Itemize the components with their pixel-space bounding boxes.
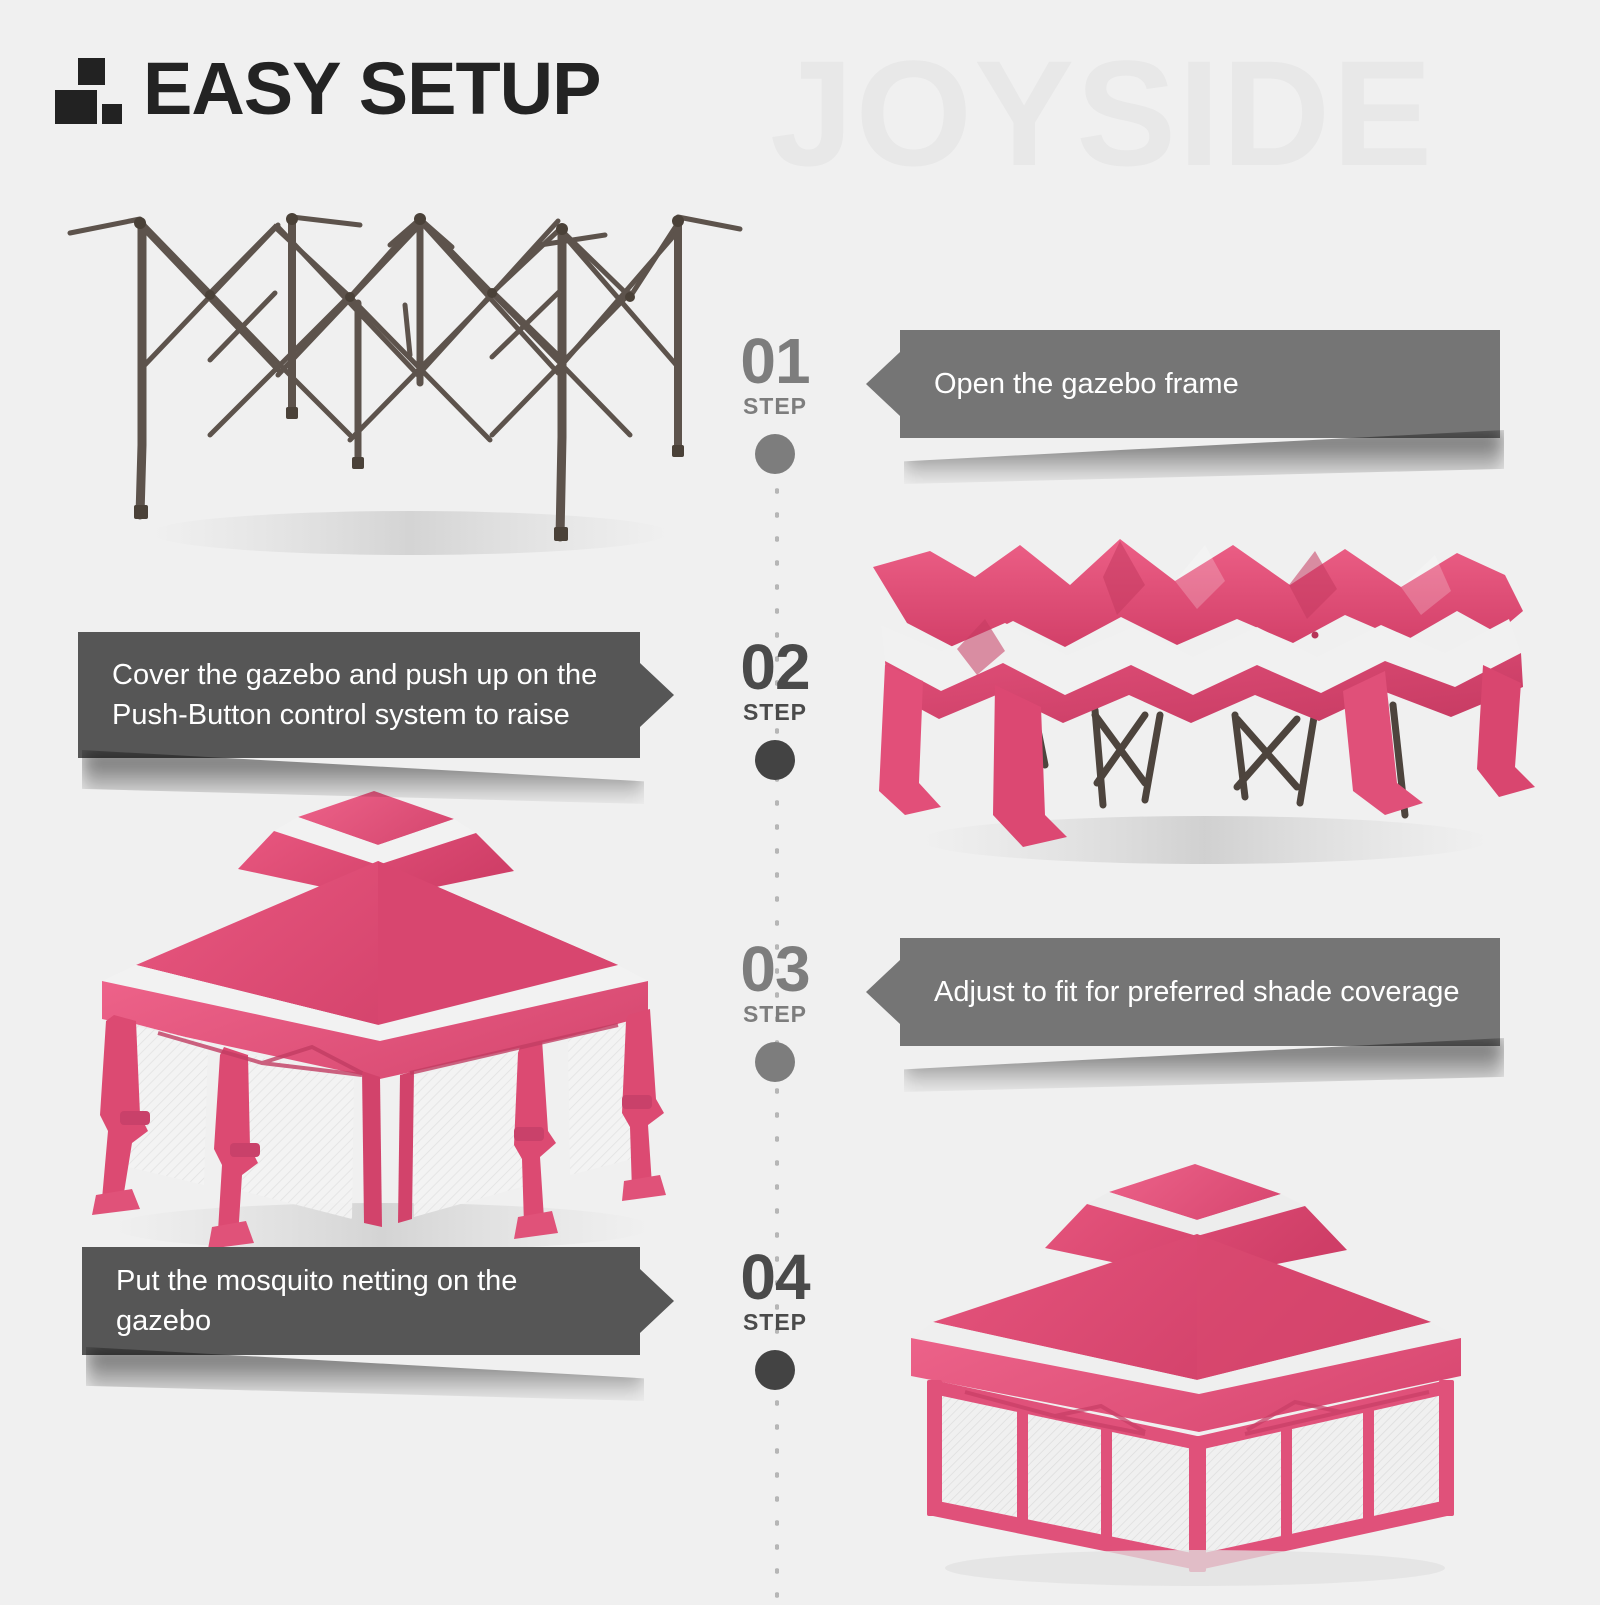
callout-shadow xyxy=(904,1038,1504,1092)
page-header: EASY SETUP xyxy=(55,52,600,124)
raised-pink-gazebo-photo xyxy=(62,775,702,1265)
step-callout-3: Adjust to fit for preferred shade covera… xyxy=(900,938,1500,1046)
collapsed-gazebo-frame-photo xyxy=(60,185,750,575)
step-bullet-icon xyxy=(755,1042,795,1082)
callout-body: Open the gazebo frame xyxy=(900,330,1500,438)
callout-body: Put the mosquito netting on the gazebo xyxy=(82,1247,640,1355)
step-word: STEP xyxy=(690,1309,860,1336)
step-bullet-icon xyxy=(755,740,795,780)
gazebo-with-mosquito-netting-photo xyxy=(895,1140,1525,1590)
step-number: 04 xyxy=(690,1248,860,1307)
step-number: 01 xyxy=(690,332,860,391)
step-word: STEP xyxy=(690,1001,860,1028)
step-callout-4: Put the mosquito netting on the gazebo xyxy=(82,1247,640,1355)
step-number: 02 xyxy=(690,638,860,697)
brand-watermark: JOYSIDE xyxy=(770,38,1434,188)
canopy-draped-over-frame-photo xyxy=(845,515,1545,885)
callout-notch-icon xyxy=(866,352,900,416)
callout-body: Adjust to fit for preferred shade covera… xyxy=(900,938,1500,1046)
callout-shadow xyxy=(86,1347,644,1401)
step-marker-3: 03 STEP xyxy=(690,940,860,1082)
callout-notch-icon xyxy=(640,663,674,727)
step-marker-2: 02 STEP xyxy=(690,638,860,780)
page-title: EASY SETUP xyxy=(143,54,600,124)
step-bullet-icon xyxy=(755,434,795,474)
callout-notch-icon xyxy=(866,960,900,1024)
callout-body: Cover the gazebo and push up on the Push… xyxy=(78,632,640,758)
step-callout-2: Cover the gazebo and push up on the Push… xyxy=(78,632,640,758)
step-callout-1: Open the gazebo frame xyxy=(900,330,1500,438)
step-bullet-icon xyxy=(755,1350,795,1390)
step-word: STEP xyxy=(690,393,860,420)
callout-text: Put the mosquito netting on the gazebo xyxy=(116,1261,606,1341)
callout-text: Cover the gazebo and push up on the Push… xyxy=(112,655,597,735)
callout-shadow xyxy=(904,430,1504,484)
callout-text: Adjust to fit for preferred shade covera… xyxy=(934,972,1460,1012)
step-word: STEP xyxy=(690,699,860,726)
step-number: 03 xyxy=(690,940,860,999)
callout-text: Open the gazebo frame xyxy=(934,364,1239,404)
callout-notch-icon xyxy=(640,1269,674,1333)
three-squares-icon xyxy=(55,52,117,124)
step-marker-1: 01 STEP xyxy=(690,332,860,474)
step-marker-4: 04 STEP xyxy=(690,1248,860,1390)
